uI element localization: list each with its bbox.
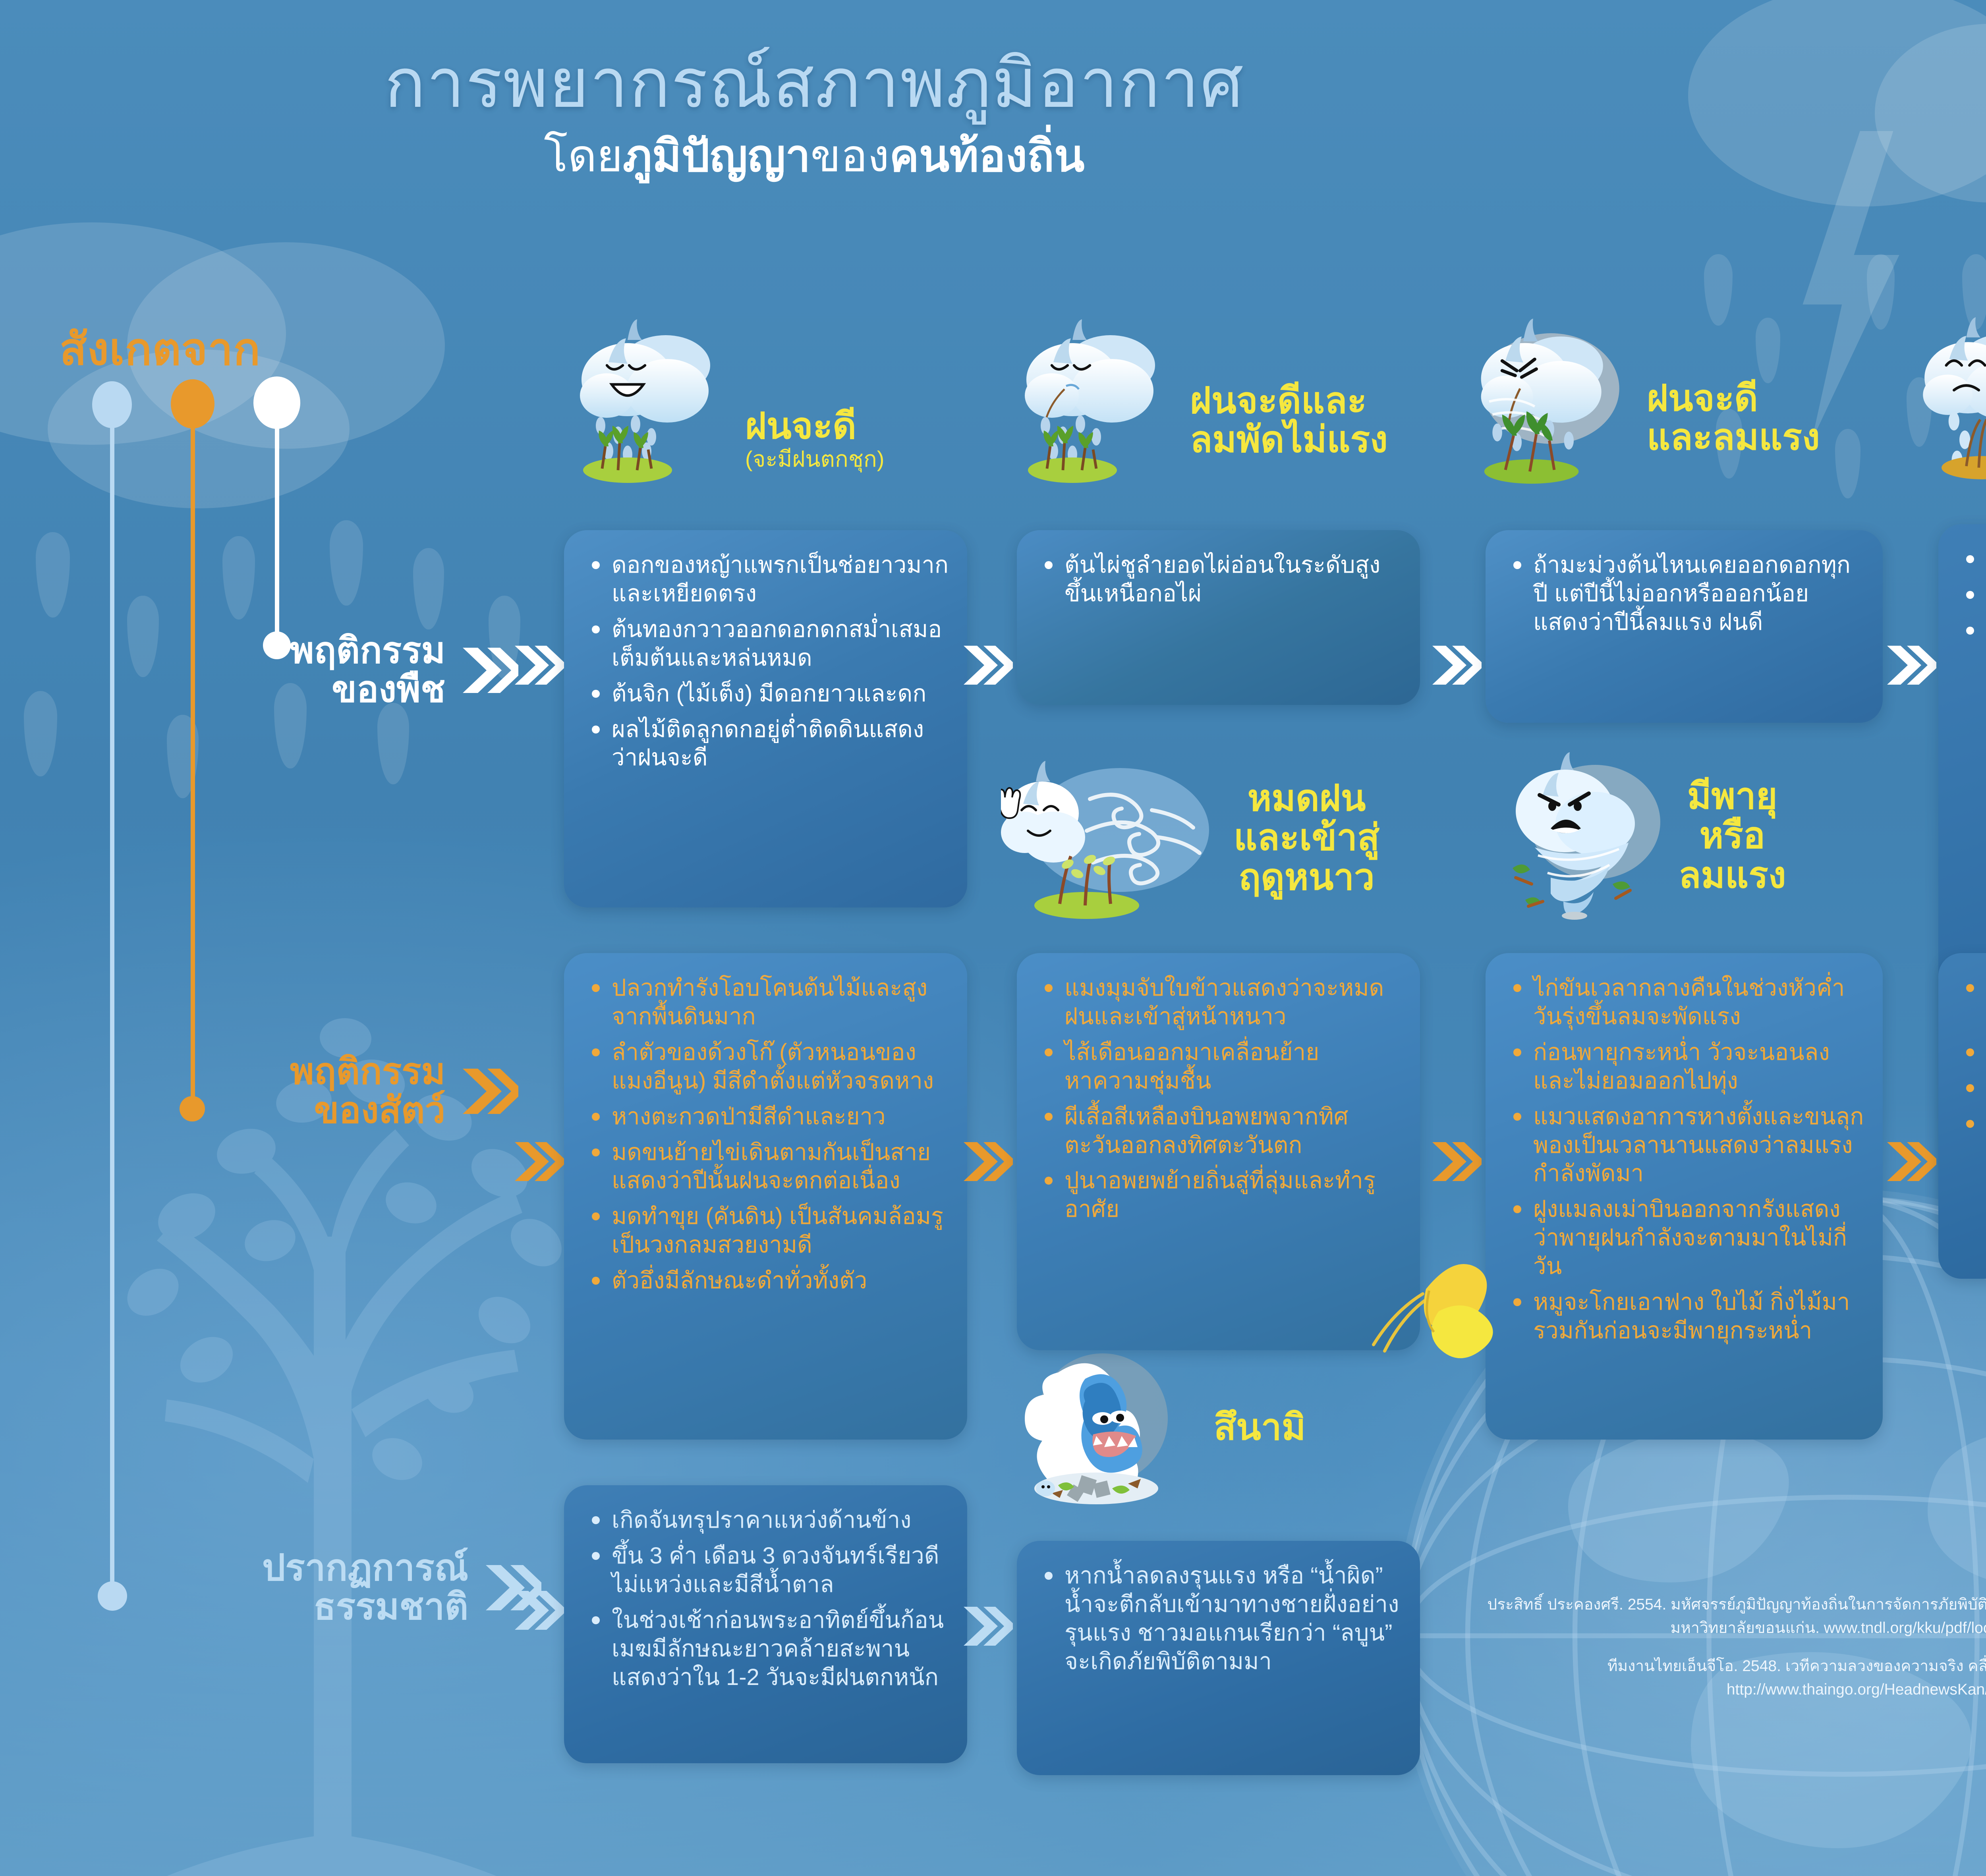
column-header-2: ฝนจะดีและ ลมพัดไม่แรง xyxy=(1017,318,1388,484)
list-item: หมูจะโกยเอาฟาง ใบไม้ กิ่งไม้มารวมกันก่อน… xyxy=(1511,1288,1864,1345)
happy-rain-cloud-icon xyxy=(572,318,739,484)
card-nature-col1: เกิดจันทรุปราคาแหว่งด้านข้าง ขึ้น 3 ค่ำ … xyxy=(564,1485,967,1763)
midblock-storm-wind: มีพายุหรือลมแรง xyxy=(1493,751,1786,921)
row-arrow-plants-4 xyxy=(1885,643,1936,687)
subtitle-part-1: โดย xyxy=(544,131,623,181)
row-arrow-animals-1 xyxy=(512,1140,564,1183)
column-title-3: ฝนจะดี และลมแรง xyxy=(1647,372,1820,484)
row-arrow-animals-2 xyxy=(961,1140,1013,1183)
card-animals-col1-list: ปลวกทำรังโอบโคนต้นไม้และสูงจากพื้นดินมาก… xyxy=(589,974,949,1295)
row-arrow-animals-3 xyxy=(1430,1140,1482,1183)
midblock-storm-wind-label: มีพายุหรือลมแรง xyxy=(1679,777,1786,895)
card-animals-col4: ควายเมื่อปล่อยจากคอกเอาเท้าหน้าขูดดินทิศ… xyxy=(1938,953,1986,1279)
midblock-end-of-rain: หมดฝนและเข้าสู่ฤดูหนาว xyxy=(1001,755,1379,921)
tsunami-wave-icon xyxy=(1017,1342,1188,1513)
list-item: มดขนย้ายไข่เดินตามกันเป็นสายแสดงว่าปีนั้… xyxy=(589,1138,949,1195)
breezy-rain-cloud-icon xyxy=(1017,318,1184,484)
card-plants-col3-list: ถ้ามะม่วงต้นไหนเคยออกดอกทุกปี แต่ปีนี้ไม… xyxy=(1511,551,1864,637)
card-animals-col3-list: ไก่ขันเวลากลางคืนในช่วงหัวค่ำ วันรุ่งขึ้… xyxy=(1511,974,1864,1345)
subtitle-part-4: คนท้องถิ่น xyxy=(889,131,1085,181)
list-item: ดอกของหญ้าแพรกเป็นช่อยาวมากและเหยียดตรง xyxy=(589,551,949,608)
row-arrow-plants-2 xyxy=(961,643,1013,687)
list-item: ขึ้น 3 ค่ำ เดือน 3 ดวงจันทร์เรียวดี ไม่แ… xyxy=(589,1542,949,1599)
list-item: ต้นทองกวาวออกดอกดกสม่ำเสมอเต็มต้นและหล่น… xyxy=(589,615,949,672)
sad-drought-cloud-icon xyxy=(1911,314,1986,481)
rail-line-animals xyxy=(191,421,195,1108)
column-title-1: ฝนจะดี (จะมีฝนตกชุก) xyxy=(745,407,884,484)
list-item: ฝูงแมลงเม่าบินออกจากรังแสดงว่าพายุฝนกำลั… xyxy=(1511,1195,1864,1281)
row-arrow-animals-4 xyxy=(1885,1140,1936,1183)
midblock-end-of-rain-label: หมดฝนและเข้าสู่ฤดูหนาว xyxy=(1234,779,1379,897)
row-arrow-nature-1 xyxy=(512,1588,564,1632)
card-animals-col3: ไก่ขันเวลากลางคืนในช่วงหัวค่ำ วันรุ่งขึ้… xyxy=(1486,953,1883,1440)
row-arrow-plants-3 xyxy=(1430,643,1482,687)
list-item: ต้นบกมีผลดกเต็มต้น xyxy=(1964,616,1986,645)
list-item: ปลวกทำรังโอบโคนต้นไม้และสูงจากพื้นดินมาก xyxy=(589,974,949,1031)
card-nature-col2: หากน้ำลดลงรุนแรง หรือ “น้ำผิด” น้ำจะตีกล… xyxy=(1017,1541,1420,1775)
card-nature-col1-list: เกิดจันทรุปราคาแหว่งด้านข้าง ขึ้น 3 ค่ำ … xyxy=(589,1506,949,1691)
list-item: ควายเมื่อปล่อยจากคอกเอาเท้าหน้าขูดดินทิศ… xyxy=(1964,974,1986,1031)
page-title: การพยากรณ์สภาพภูมิอากาศ xyxy=(0,48,1629,120)
list-item: ผลไม้ติดลูกดกอยู่ต่ำติดดินแสดงว่าฝนจะดี xyxy=(589,715,949,772)
card-nature-col2-list: หากน้ำลดลงรุนแรง หรือ “น้ำผิด” น้ำจะตีกล… xyxy=(1042,1561,1402,1676)
list-item: ตัวอึ่งมีลักษณะดำไม่ทั่วตัว xyxy=(1964,1038,1986,1067)
list-item: ปูนาอพยพย้ายถิ่นสู่ที่ลุ่มและทำรูอาศัย xyxy=(1042,1166,1402,1224)
list-item: ลำตัวของด้วงโก๊ (ตัวหนอนของแมงอีนูน) มีส… xyxy=(589,1038,949,1095)
page-header: การพยากรณ์สภาพภูมิอากาศ โดยภูมิปัญญาของค… xyxy=(0,48,1629,180)
card-plants-col2: ต้นไผ่ชูลำยอดไผ่อ่อนในระดับสูงขึ้นเหนือก… xyxy=(1017,530,1420,705)
column-header-1: ฝนจะดี (จะมีฝนตกชุก) xyxy=(572,318,884,484)
subtitle-part-2: ภูมิปัญญา xyxy=(623,131,811,181)
list-item: ไส้เดือนออกมาเคลื่อนย้ายหาความชุ่มชื้น xyxy=(1042,1038,1402,1095)
card-plants-col3: ถ้ามะม่วงต้นไหนเคยออกดอกทุกปี แต่ปีนี้ไม… xyxy=(1486,530,1883,723)
sidebar-item-phenomena-label: ปรากฏการณ์ธรรมชาติ xyxy=(262,1549,468,1626)
rail-line-plants xyxy=(110,421,114,1596)
sources-heading: ที่มา : xyxy=(1442,1564,1986,1589)
windy-storm-cloud-icon xyxy=(1470,314,1640,484)
rail-knob-nature-end xyxy=(263,631,291,659)
list-item: ในช่วงเช้าก่อนพระอาทิตย์ขึ้นก้อนเมฆมีลัก… xyxy=(589,1606,949,1692)
list-item: มดทำขุย (คันดิน) เป็นสันคมล้อมรูเป็นวงกล… xyxy=(589,1202,949,1259)
midblock-tsunami: สึนามิ xyxy=(1017,1342,1306,1513)
list-item: ไก่ขันเวลากลางคืนในช่วงหัวค่ำ วันรุ่งขึ้… xyxy=(1511,974,1864,1031)
row-arrow-nature-2 xyxy=(961,1604,1013,1648)
sidebar-item-plants[interactable]: พฤติกรรมของพืช xyxy=(290,631,518,709)
list-item: ผลกะทกรกมีขนหุ้มมาก xyxy=(1964,581,1986,609)
row-arrow-plants-1 xyxy=(512,643,564,687)
list-item: แมงดาวางไข่ต่ำ xyxy=(1964,1110,1986,1138)
column-header-4: ฝนจะไม่ดี (ฝนตกน้อย มีน้ำน้อย) xyxy=(1911,314,1986,481)
card-animals-col4-list: ควายเมื่อปล่อยจากคอกเอาเท้าหน้าขูดดินทิศ… xyxy=(1964,974,1986,1138)
observation-rail: สังเกตจาก พฤติกรรมของพืช พฤติกรรมของสัตว… xyxy=(0,302,556,1692)
rail-knob-animals-end xyxy=(180,1096,205,1121)
column-header-3: ฝนจะดี และลมแรง xyxy=(1470,314,1820,484)
card-animals-col2-list: แมงมุมจับใบข้าวแสดงว่าจะหมดฝนและเข้าสู่ห… xyxy=(1042,974,1402,1224)
rail-knob-phenomena-end xyxy=(98,1581,127,1611)
column-title-2: ฝนจะดีและ ลมพัดไม่แรง xyxy=(1190,374,1388,484)
sidebar-item-animals-label: พฤติกรรมของสัตว์ xyxy=(290,1052,445,1130)
list-item: ผึ้งทำรังต่ำ xyxy=(1964,1074,1986,1102)
card-plants-col2-list: ต้นไผ่ชูลำยอดไผ่อ่อนในระดับสูงขึ้นเหนือก… xyxy=(1042,551,1402,608)
sidebar-item-plants-label: พฤติกรรมของพืช xyxy=(290,631,445,709)
butterfly-icon xyxy=(1362,1235,1497,1368)
source-entry: ประสิทธิ์ ประคองศรี. 2554. มหัศจรรย์ภูมิ… xyxy=(1442,1593,1986,1640)
list-item: ต้นจิก (ไม้เต็ง) มีดอกยาวและดก xyxy=(589,679,949,708)
list-item: แมงมุมจับใบข้าวแสดงว่าจะหมดฝนและเข้าสู่ห… xyxy=(1042,974,1402,1031)
list-item: หากน้ำลดลงรุนแรง หรือ “น้ำผิด” น้ำจะตีกล… xyxy=(1042,1561,1402,1676)
list-item: เกิดจันทรุปราคาแหว่งด้านข้าง xyxy=(589,1506,949,1534)
sidebar-item-phenomena[interactable]: ปรากฏการณ์ธรรมชาติ xyxy=(262,1549,541,1626)
card-plants-col1: ดอกของหญ้าแพรกเป็นช่อยาวมากและเหยียดตรง … xyxy=(564,530,967,907)
card-plants-col1-list: ดอกของหญ้าแพรกเป็นช่อยาวมากและเหยียดตรง … xyxy=(589,551,949,772)
list-item: ก่อนพายุกระหน่ำ วัวจะนอนลงและไม่ยอมออกไป… xyxy=(1511,1038,1864,1095)
list-item: ผีเสื้อสีเหลืองบินอพยพจากทิศตะวันออกลงทิ… xyxy=(1042,1102,1402,1160)
sidebar-item-animals[interactable]: พฤติกรรมของสัตว์ xyxy=(290,1052,518,1130)
chevron-right-icon xyxy=(459,1065,518,1117)
page-subtitle: โดยภูมิปัญญาของคนท้องถิ่น xyxy=(0,131,1629,180)
rail-title: สังเกตจาก xyxy=(60,314,261,384)
angry-tornado-icon xyxy=(1493,751,1668,921)
list-item: ต้นไผ่ชูลำยอดไผ่อ่อนในระดับสูงขึ้นเหนือก… xyxy=(1042,551,1402,608)
sources-block: ที่มา : ประสิทธิ์ ประคองศรี. 2554. มหัศจ… xyxy=(1442,1564,1986,1701)
sleepy-wind-cloud-icon xyxy=(1001,755,1223,921)
rail-line-nature xyxy=(275,421,279,643)
source-entry: ทีมงานไทยเอ็นจีโอ. 2548. เวทีความลวงของค… xyxy=(1442,1655,1986,1701)
card-animals-col2: แมงมุมจับใบข้าวแสดงว่าจะหมดฝนและเข้าสู่ห… xyxy=(1017,953,1420,1350)
list-item: ถ้ามะม่วงต้นไหนเคยออกดอกทุกปี แต่ปีนี้ไม… xyxy=(1511,551,1864,637)
list-item: หางตะกวดป่ามีสีดำและยาว xyxy=(589,1102,949,1131)
card-plants-col4-list: ต้นมะขามออกดอกมาก ผลกะทกรกมีขนหุ้มมาก ต้… xyxy=(1964,545,1986,645)
list-item: ตัวอึ่งมีลักษณะดำทั่วทั้งตัว xyxy=(589,1266,949,1295)
list-item: ต้นมะขามออกดอกมาก xyxy=(1964,545,1986,573)
card-animals-col1: ปลวกทำรังโอบโคนต้นไม้และสูงจากพื้นดินมาก… xyxy=(564,953,967,1440)
subtitle-part-3: ของ xyxy=(810,131,889,181)
midblock-tsunami-label: สึนามิ xyxy=(1214,1408,1306,1447)
chevron-right-icon xyxy=(459,645,518,696)
list-item: แมวแสดงอาการหางตั้งและขนลุกพองเป็นเวลานา… xyxy=(1511,1102,1864,1188)
